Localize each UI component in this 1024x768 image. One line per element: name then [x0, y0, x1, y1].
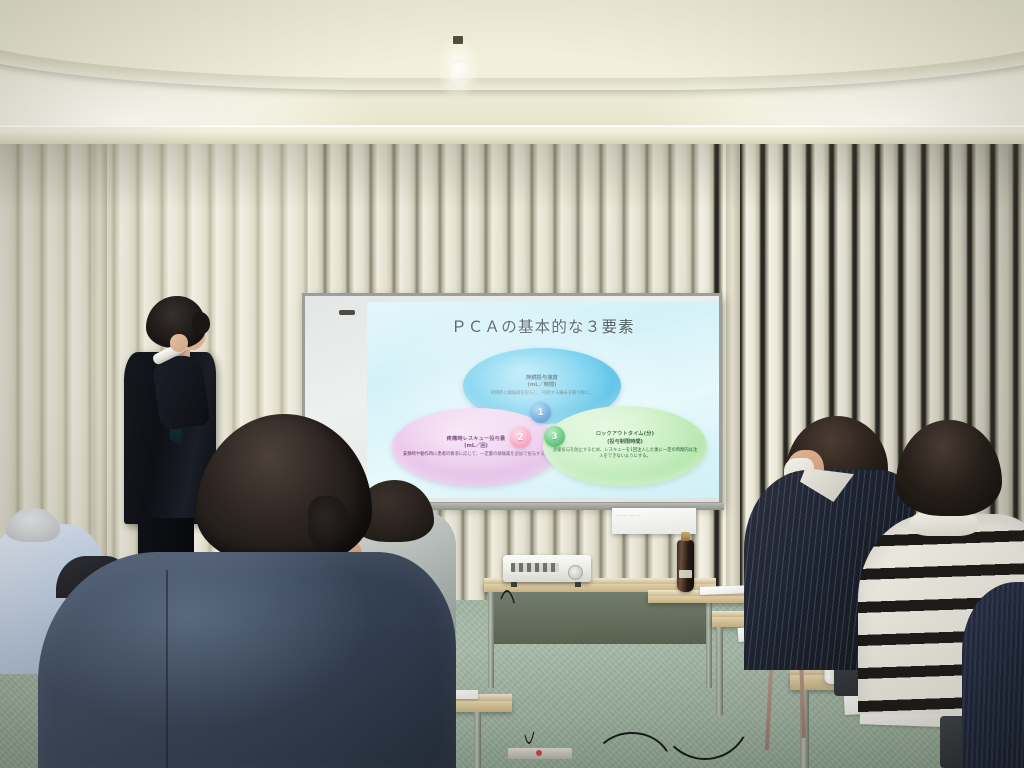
projector-foot-left	[511, 582, 517, 587]
seminar-room-photo: ＰＣＡの基本的な３要素 持続投与速度 (mL／時間) 持続的に鎮痛薬を投与し、持…	[0, 0, 1024, 768]
ellipse-body: 過量投与を防止するため、レスキューを1回注入した後に一定の時間内は注入をできない…	[543, 448, 707, 461]
slide-badge-2: 2	[510, 427, 531, 448]
attendee-navy-knit-torso	[962, 582, 1024, 768]
ellipse-body: 持続的に鎮痛薬を投与し、持続する痛みを取り除く。	[481, 391, 602, 397]
projector-table-leg-right	[706, 592, 712, 688]
mid-desk-leg	[474, 712, 481, 768]
slide-title: ＰＣＡの基本的な３要素	[367, 315, 719, 337]
ceiling	[0, 0, 1024, 136]
ellipse-heading: 疼痛時レスキュー投与量	[447, 436, 506, 443]
power-strip	[508, 748, 572, 759]
projector-foot-right	[575, 582, 581, 587]
hanging-sign: ......... ...... ....	[612, 508, 696, 534]
ellipse-body: 安静時や動作時に患者の要求に応じて、一定量の鎮痛薬を追加で投与する。	[394, 452, 558, 458]
presenter-hand	[170, 334, 188, 352]
projector-ports	[511, 563, 559, 572]
hanging-sign-text: ......... ...... ....	[616, 513, 692, 518]
right-desk-leg-1	[716, 627, 723, 715]
ceiling-arch-inner	[0, 0, 1024, 78]
whiteboard-magnet-icon	[339, 310, 355, 315]
wall-ledge-highlight	[0, 125, 1024, 127]
attendee-front-jacket	[38, 552, 456, 768]
ellipse-subheading: (mL／回)	[464, 443, 488, 450]
projected-slide: ＰＣＡの基本的な３要素 持続投与速度 (mL／時間) 持続的に鎮痛薬を投与し、持…	[367, 302, 719, 498]
ellipse-heading: 持続投与速度	[526, 375, 558, 382]
slide-badge-3: 3	[544, 426, 565, 447]
ellipse-subheading: (mL／時間)	[527, 382, 556, 389]
coffee-bottle	[677, 540, 694, 592]
projector	[503, 555, 591, 582]
ceiling-speaker-icon	[438, 40, 478, 98]
wall-ledge	[0, 126, 1024, 146]
slide-ellipse-lockout-time: ロックアウトタイム(分) (投与制限時間) 過量投与を防止するため、レスキューを…	[543, 406, 707, 486]
ellipse-heading: ロックアウトタイム(分)	[596, 431, 654, 438]
slide-badge-1: 1	[530, 402, 551, 423]
ellipse-subheading: (投与制限時間)	[607, 439, 643, 446]
